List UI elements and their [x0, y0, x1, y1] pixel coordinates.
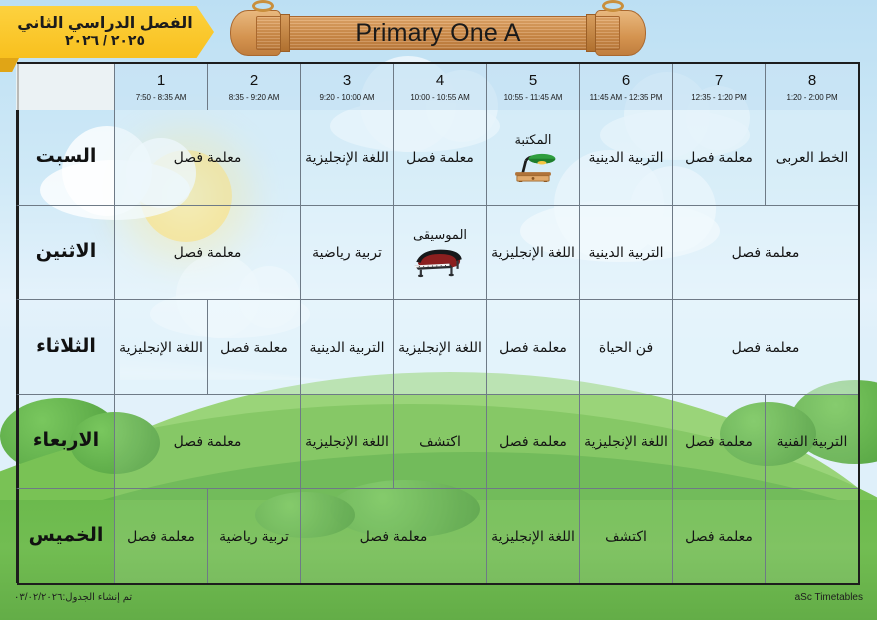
timetable-row: معلمة فصلفن الحياةمعلمة فصلاللغة الإنجلي…	[19, 299, 858, 394]
lesson-label: معلمة فصل	[220, 339, 288, 356]
lesson-label: فن الحياة	[599, 339, 653, 356]
period-time: 10:55 - 11:45 AM	[504, 93, 563, 102]
lesson-label: التربية الدينية	[310, 339, 385, 356]
lesson-cell[interactable]: اللغة الإنجليزية	[486, 205, 579, 300]
lesson-label: اكتشف	[605, 528, 647, 545]
hook-ring-icon	[602, 0, 624, 12]
lesson-label: اللغة الإنجليزية	[119, 339, 203, 356]
timetable-grid: 81:20 - 2:00 PM712:35 - 1:20 PM611:45 AM…	[17, 62, 860, 585]
day-label-3: الثلاثاء	[16, 299, 114, 394]
lesson-cell[interactable]: اللغة الإنجليزية	[300, 394, 393, 489]
day-label-1: السبت	[16, 110, 114, 205]
lesson-cell[interactable]: التربية الدينية	[579, 205, 672, 300]
period-number: 4	[436, 72, 444, 90]
lesson-cell[interactable]: فن الحياة	[579, 299, 672, 394]
timetable-scene: الفصل الدراسي الثاني ٢٠٢٥ / ٢٠٢٦ Primary…	[0, 0, 877, 620]
day-label-5: الخميس	[16, 488, 114, 583]
lesson-label: معلمة فصل	[360, 528, 428, 545]
lesson-cell[interactable]: معلمة فصل	[114, 394, 300, 489]
period-number: 5	[529, 72, 537, 90]
lesson-cell[interactable]: التربية الدينية	[300, 299, 393, 394]
lesson-cell[interactable]: اللغة الإنجليزية	[486, 488, 579, 583]
period-time: 12:35 - 1:20 PM	[691, 93, 746, 102]
period-header-6: 611:45 AM - 12:35 PM	[579, 64, 672, 110]
lesson-label: تربية رياضية	[219, 528, 289, 545]
lesson-cell[interactable]: معلمة فصل	[672, 488, 765, 583]
period-time: 9:20 - 10:00 AM	[320, 93, 375, 102]
lesson-label: معلمة فصل	[685, 433, 753, 450]
lesson-cell[interactable]: معلمة فصل	[114, 488, 207, 583]
period-header-4: 410:00 - 10:55 AM	[393, 64, 486, 110]
timetable-row: التربية الفنيةمعلمة فصلاللغة الإنجليزيةم…	[19, 394, 858, 489]
lesson-label: اللغة الإنجليزية	[305, 149, 389, 166]
lesson-label: التربية الدينية	[589, 244, 664, 261]
lesson-label: معلمة فصل	[406, 149, 474, 166]
period-header-8: 81:20 - 2:00 PM	[765, 64, 858, 110]
lesson-cell[interactable]: معلمة فصل	[672, 299, 858, 394]
period-number: 7	[715, 72, 723, 90]
lesson-label: معلمة فصل	[732, 244, 800, 261]
lesson-cell[interactable]: معلمة فصل	[486, 299, 579, 394]
lesson-cell[interactable]: اللغة الإنجليزية	[579, 394, 672, 489]
period-number: 3	[343, 72, 351, 90]
day-column-header	[16, 64, 114, 110]
lesson-cell[interactable]: اللغة الإنجليزية	[300, 110, 393, 205]
lesson-label: معلمة فصل	[685, 528, 753, 545]
footer-bar: aSc Timetables تم إنشاء الجدول:٠٣/٠٢/٢٠٢…	[0, 588, 877, 606]
lesson-cell[interactable]: تربية رياضية	[300, 205, 393, 300]
lesson-cell[interactable]: معلمة فصل	[207, 299, 300, 394]
period-time: 8:35 - 9:20 AM	[229, 93, 280, 102]
lesson-label: معلمة فصل	[499, 339, 567, 356]
lesson-label: تربية رياضية	[312, 244, 382, 261]
lesson-label: معلمة فصل	[174, 433, 242, 450]
desk-lamp-icon	[506, 148, 560, 182]
hook-ring-icon	[252, 0, 274, 12]
lesson-cell[interactable]: تربية رياضية	[207, 488, 300, 583]
lesson-cell[interactable]: الخط العربى	[765, 110, 858, 205]
lesson-cell[interactable]: اكتشف	[579, 488, 672, 583]
lesson-cell[interactable]: التربية الدينية	[579, 110, 672, 205]
lesson-label: معلمة فصل	[499, 433, 567, 450]
lesson-cell[interactable]: معلمة فصل	[672, 205, 858, 300]
timetable-row: الخط العربىمعلمة فصلالتربية الدينيةالمكت…	[19, 110, 858, 205]
period-time: 10:00 - 10:55 AM	[410, 93, 469, 102]
period-time: 7:50 - 8:35 AM	[136, 93, 187, 102]
period-number: 8	[808, 72, 816, 90]
lesson-label: اكتشف	[419, 433, 461, 450]
lesson-cell[interactable]: التربية الفنية	[765, 394, 858, 489]
period-header-5: 510:55 - 11:45 AM	[486, 64, 579, 110]
lesson-cell[interactable]: المكتبة	[486, 110, 579, 205]
lesson-cell[interactable]: معلمة فصل	[114, 110, 300, 205]
period-header-7: 712:35 - 1:20 PM	[672, 64, 765, 110]
semester-title: الفصل الدراسي الثاني	[17, 15, 193, 33]
lesson-cell[interactable]: اللغة الإنجليزية	[393, 299, 486, 394]
period-number: 2	[250, 72, 258, 90]
timetable-body: الخط العربىمعلمة فصلالتربية الدينيةالمكت…	[19, 110, 858, 583]
lesson-label: المكتبة	[514, 132, 551, 147]
generator-label: aSc Timetables	[795, 592, 863, 603]
period-number: 1	[157, 72, 165, 90]
day-label-4: الاربعاء	[16, 394, 114, 489]
timetable-row: معلمة فصلاكتشفاللغة الإنجليزيةمعلمة فصلت…	[19, 488, 858, 583]
lesson-cell[interactable]: معلمة فصل	[114, 205, 300, 300]
lesson-cell[interactable]: معلمة فصل	[672, 394, 765, 489]
lesson-label: معلمة فصل	[732, 339, 800, 356]
day-label-2: الاثنين	[16, 205, 114, 300]
lesson-label: الموسيقى	[413, 227, 467, 242]
lesson-label: اللغة الإنجليزية	[305, 433, 389, 450]
period-header-2: 28:35 - 9:20 AM	[207, 64, 300, 110]
lesson-cell[interactable]: اكتشف	[393, 394, 486, 489]
period-number: 6	[622, 72, 630, 90]
lesson-label: الخط العربى	[776, 149, 849, 166]
lesson-cell[interactable]: معلمة فصل	[393, 110, 486, 205]
lesson-cell[interactable]: اللغة الإنجليزية	[114, 299, 207, 394]
period-header-3: 39:20 - 10:00 AM	[300, 64, 393, 110]
lesson-label: اللغة الإنجليزية	[584, 433, 668, 450]
period-time: 11:45 AM - 12:35 PM	[590, 93, 663, 102]
lesson-label: اللغة الإنجليزية	[491, 528, 575, 545]
lesson-cell[interactable]: معلمة فصل	[300, 488, 486, 583]
period-header-row: 81:20 - 2:00 PM712:35 - 1:20 PM611:45 AM…	[19, 64, 858, 110]
lesson-label: اللغة الإنجليزية	[398, 339, 482, 356]
semester-years: ٢٠٢٥ / ٢٠٢٦	[65, 32, 145, 49]
lesson-cell[interactable]: معلمة فصل	[486, 394, 579, 489]
created-date-label: تم إنشاء الجدول:٠٣/٠٢/٢٠٢٦	[14, 592, 132, 603]
lesson-label: اللغة الإنجليزية	[491, 244, 575, 261]
lesson-label: التربية الدينية	[589, 149, 664, 166]
lesson-label: معلمة فصل	[174, 244, 242, 261]
grand-piano-icon	[413, 244, 467, 278]
lesson-cell[interactable]: معلمة فصل	[672, 110, 765, 205]
timetable-row: معلمة فصلالتربية الدينيةاللغة الإنجليزية…	[19, 205, 858, 300]
lesson-label: معلمة فصل	[685, 149, 753, 166]
page-title: Primary One A	[228, 16, 648, 50]
title-scroll-banner: Primary One A	[228, 4, 648, 58]
lesson-cell[interactable]	[765, 488, 858, 583]
semester-banner: الفصل الدراسي الثاني ٢٠٢٥ / ٢٠٢٦	[0, 6, 214, 58]
period-header-1: 17:50 - 8:35 AM	[114, 64, 207, 110]
lesson-label: معلمة فصل	[174, 149, 242, 166]
lesson-cell[interactable]: الموسيقى	[393, 205, 486, 300]
lesson-label: معلمة فصل	[127, 528, 195, 545]
period-time: 1:20 - 2:00 PM	[786, 93, 837, 102]
lesson-label: التربية الفنية	[777, 433, 848, 450]
